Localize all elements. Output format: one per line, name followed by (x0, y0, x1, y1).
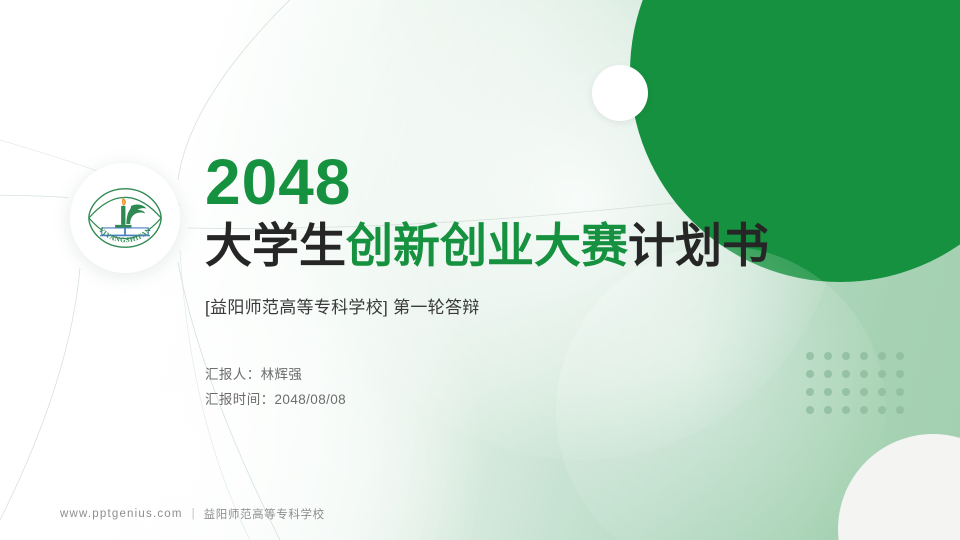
grid-dot (878, 388, 886, 396)
subtitle: [益阳师范高等专科学校] 第一轮答辩 (205, 293, 865, 318)
presentation-slide: YIYANGSHIFAN 2048 大学生创新创业大赛计划书 [益阳师范高等专科… (0, 0, 960, 540)
grid-dot (896, 406, 904, 414)
grid-dot (878, 370, 886, 378)
presenter-info: 汇报人：林辉强 汇报时间：2048/08/08 (205, 363, 865, 413)
headline-part-1: 大学生 (205, 219, 346, 272)
footer: www.pptgenius.com | 益阳师范高等专科学校 (60, 506, 325, 522)
title-block: 2048 大学生创新创业大赛计划书 [益阳师范高等专科学校] 第一轮答辩 汇报人… (205, 150, 865, 413)
headline-part-2: 创新创业大赛 (346, 219, 628, 272)
school-logo: YIYANGSHIFAN (70, 163, 180, 273)
footer-organization: 益阳师范高等专科学校 (204, 506, 325, 522)
presenter-name: 汇报人：林辉强 (205, 363, 865, 388)
footer-website: www.pptgenius.com (60, 508, 183, 520)
school-emblem-icon: YIYANGSHIFAN (82, 175, 168, 261)
grid-dot (896, 388, 904, 396)
grid-dot (896, 370, 904, 378)
grid-dot (896, 352, 904, 360)
footer-separator: | (192, 508, 195, 520)
year-heading: 2048 (205, 150, 865, 214)
grid-dot (878, 406, 886, 414)
main-headline: 大学生创新创业大赛计划书 (205, 220, 865, 273)
decorative-white-circle (592, 65, 648, 121)
presentation-date: 汇报时间：2048/08/08 (205, 388, 865, 413)
headline-part-3: 计划书 (628, 219, 769, 272)
grid-dot (878, 352, 886, 360)
